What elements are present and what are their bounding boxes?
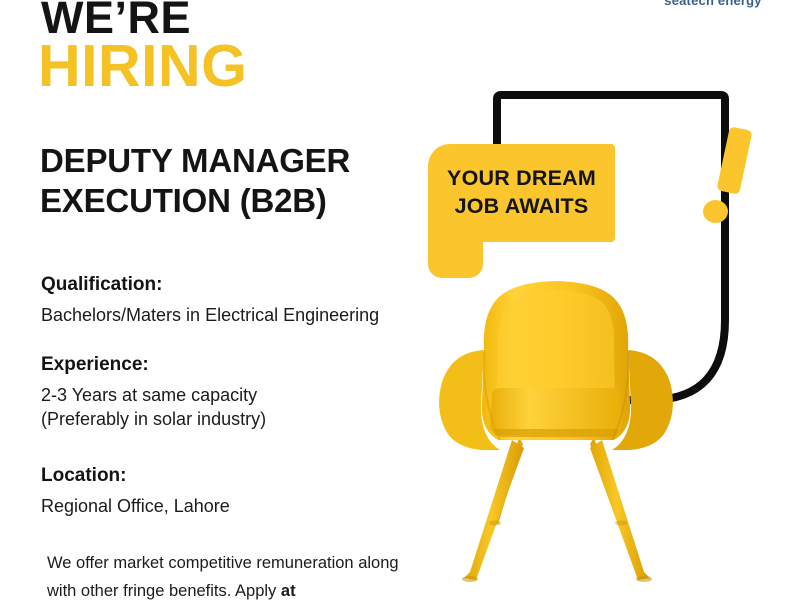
experience-label: Experience: [41,353,441,378]
footer-line-2-bold: at [281,582,296,600]
speech-bubble: YOUR DREAM JOB AWAITS [428,144,615,242]
location-line-1: Regional Office, Lahore [41,494,441,518]
qualification-value: Bachelors/Maters in Electrical Engineeri… [41,303,441,327]
location-label: Location: [41,464,441,489]
qualification-line-1: Bachelors/Maters in Electrical Engineeri… [41,303,441,327]
experience-line-1: 2-3 Years at same capacity [41,383,441,407]
experience-line-2: (Preferably in solar industry) [41,407,441,431]
experience-value: 2-3 Years at same capacity (Preferably i… [41,383,441,432]
detail-block-experience: Experience: 2-3 Years at same capacity (… [41,353,441,432]
qualification-label: Qualification: [41,273,441,298]
headline-hiring: HIRING [38,37,248,96]
footer-line-1: We offer market competitive remuneration… [47,554,399,572]
exclamation-mark-dot [703,200,728,223]
location-value: Regional Office, Lahore [41,494,441,518]
callout-line-1: YOUR DREAM [447,166,596,192]
yellow-armchair-icon [424,272,688,600]
job-title: DEPUTY MANAGER EXECUTION (B2B) [40,141,440,222]
footer-note: We offer market competitive remuneration… [47,549,447,600]
detail-block-location: Location: Regional Office, Lahore [41,464,441,518]
detail-block-qualification: Qualification: Bachelors/Maters in Elect… [41,273,441,327]
speech-bubble-text: YOUR DREAM JOB AWAITS [428,144,615,242]
callout-line-2: JOB AWAITS [455,194,589,220]
brand-logo: seatech energy [648,0,778,8]
footer-line-2-prefix: with other fringe benefits. Apply [47,582,281,600]
hiring-poster: seatech energy WE’RE HIRING DEPUTY MANAG… [0,0,800,600]
